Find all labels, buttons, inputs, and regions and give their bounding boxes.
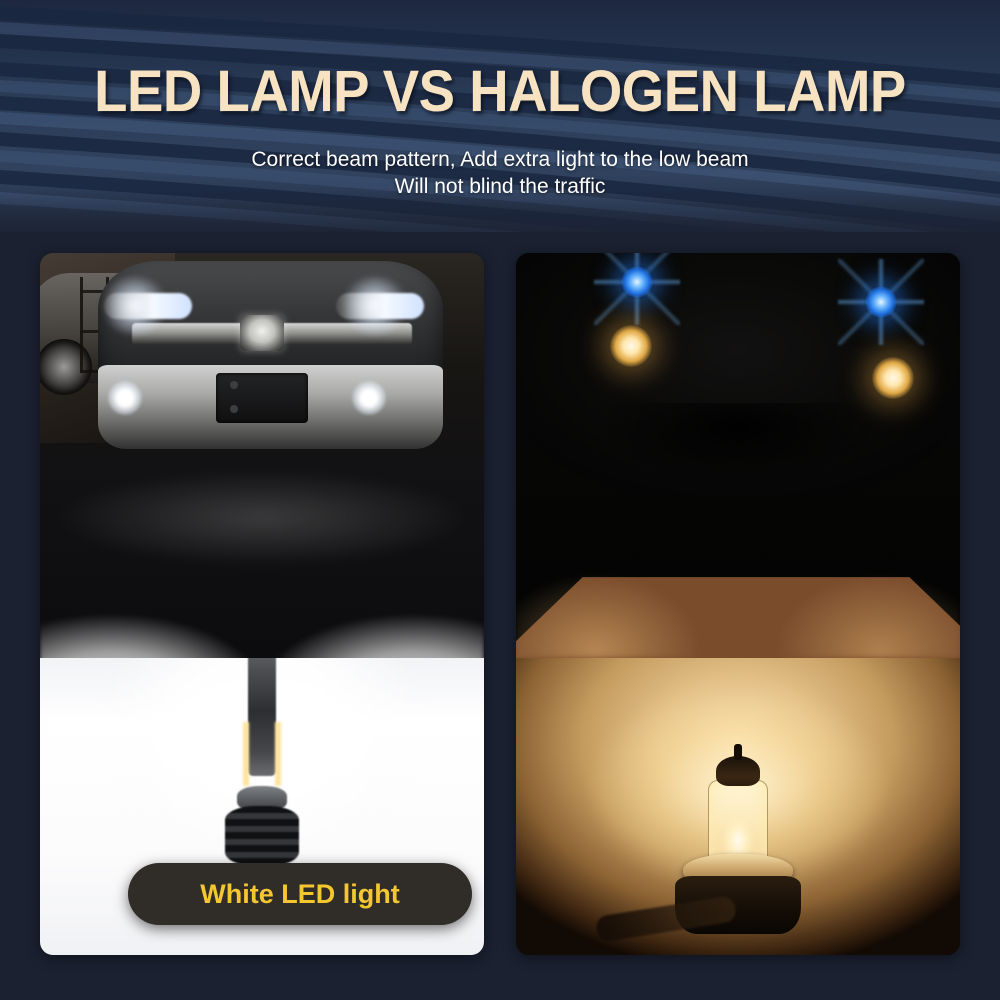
led-beam-pattern	[40, 464, 484, 658]
led-headlight-photo	[40, 253, 484, 658]
halogen-bulb-photo	[516, 658, 960, 955]
led-comparison-panel[interactable]: White LED light	[40, 253, 484, 955]
license-plate-holder	[216, 373, 308, 423]
car-shadow	[516, 403, 960, 523]
led-badge[interactable]: White LED light	[128, 863, 472, 925]
subtitle-line-1: Correct beam pattern, Add extra light to…	[0, 146, 1000, 173]
led-bulb-base	[225, 806, 299, 866]
page-subtitle: Correct beam pattern, Add extra light to…	[0, 146, 1000, 200]
led-headlamp-right	[336, 293, 424, 319]
led-emitter-chips	[243, 722, 281, 786]
fog-lamp-right	[352, 381, 386, 415]
blue-accent-light-left	[620, 265, 654, 299]
halogen-lamp-right	[872, 357, 914, 399]
page-title: LED LAMP VS HALOGEN LAMP	[30, 58, 970, 125]
halogen-bulb-wire	[595, 895, 737, 943]
blue-accent-light-right	[864, 285, 898, 319]
led-headlamp-left	[104, 293, 192, 319]
car-emblem-icon	[240, 315, 284, 351]
subtitle-line-2: Will not blind the traffic	[0, 173, 1000, 200]
led-badge-label: White LED light	[200, 879, 399, 910]
halogen-headlight-photo	[516, 253, 960, 658]
promo-banner: LED LAMP VS HALOGEN LAMP Correct beam pa…	[0, 0, 1000, 1000]
fog-lamp-left	[108, 381, 142, 415]
halogen-lamp-left	[610, 325, 652, 367]
halogen-comparison-panel[interactable]: yellow halogen lamp	[516, 253, 960, 955]
halogen-bulb-tip	[716, 756, 760, 786]
halogen-filament	[723, 816, 753, 856]
